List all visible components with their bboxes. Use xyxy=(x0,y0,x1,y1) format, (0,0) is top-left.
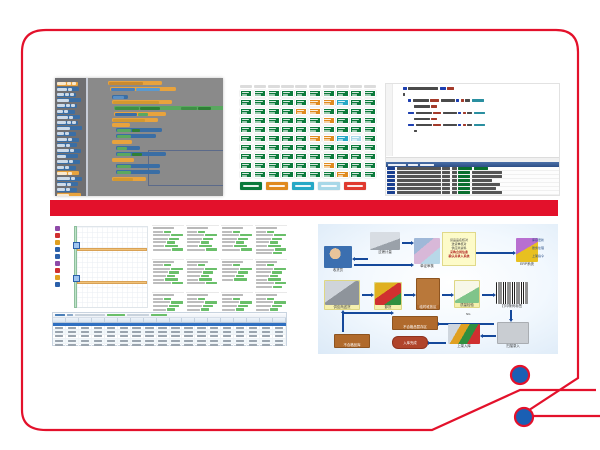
table-cell[interactable] xyxy=(105,344,118,346)
table-cell[interactable] xyxy=(92,326,105,329)
flow-node-scan-entry[interactable]: 扫描录入 xyxy=(498,322,528,348)
workspace-block[interactable] xyxy=(112,95,128,99)
status-card[interactable] xyxy=(268,153,280,160)
code-line[interactable] xyxy=(397,99,557,102)
status-card[interactable] xyxy=(336,117,348,124)
status-card[interactable] xyxy=(350,126,362,133)
table-cell[interactable] xyxy=(208,330,221,333)
workspace-block[interactable] xyxy=(116,164,160,168)
status-card[interactable] xyxy=(336,144,348,151)
report-panel[interactable] xyxy=(152,259,184,291)
status-card[interactable] xyxy=(281,126,293,133)
data-grid-column-header[interactable] xyxy=(118,318,131,322)
table-cell[interactable] xyxy=(66,335,79,338)
data-grid-column-header[interactable] xyxy=(221,318,234,322)
table-cell[interactable] xyxy=(92,339,105,342)
status-card[interactable] xyxy=(336,171,348,178)
table-cell[interactable] xyxy=(182,339,195,342)
table-cell[interactable] xyxy=(182,330,195,333)
palette-block[interactable] xyxy=(57,126,82,130)
status-card[interactable] xyxy=(254,90,266,97)
table-cell[interactable] xyxy=(195,326,208,329)
table-cell[interactable] xyxy=(157,335,170,338)
status-card[interactable] xyxy=(364,126,376,133)
palette-block[interactable] xyxy=(57,149,81,153)
table-cell[interactable] xyxy=(195,339,208,342)
table-cell[interactable] xyxy=(208,335,221,338)
status-card[interactable] xyxy=(364,99,376,106)
report-panel[interactable] xyxy=(255,225,287,257)
sheet-icon[interactable] xyxy=(55,247,60,252)
palette-block[interactable] xyxy=(57,143,77,147)
data-grid-column-header[interactable] xyxy=(195,318,208,322)
table-cell[interactable] xyxy=(170,330,183,333)
data-grid-column-header[interactable] xyxy=(53,318,66,322)
status-card[interactable] xyxy=(295,117,307,124)
status-card[interactable] xyxy=(336,153,348,160)
table-cell[interactable] xyxy=(234,344,247,346)
data-grid-column-header[interactable] xyxy=(260,318,273,322)
sheet-icon[interactable] xyxy=(55,226,60,231)
palette-block[interactable] xyxy=(57,177,82,181)
data-grid-column-header[interactable] xyxy=(157,318,170,322)
table-cell[interactable] xyxy=(131,335,144,338)
status-card[interactable] xyxy=(254,117,266,124)
data-grid-column-header[interactable] xyxy=(247,318,260,322)
table-cell[interactable] xyxy=(105,335,118,338)
output-log-rows[interactable] xyxy=(386,167,559,196)
panel-blocks-editor[interactable] xyxy=(55,78,223,196)
code-line[interactable] xyxy=(397,117,557,120)
flow-node-nonconform-hold[interactable]: 不合格品暂存区 xyxy=(392,316,438,330)
status-card[interactable] xyxy=(295,153,307,160)
report-panel[interactable] xyxy=(221,259,253,291)
status-card[interactable] xyxy=(350,171,362,178)
workspace-block[interactable] xyxy=(114,106,223,110)
table-cell[interactable] xyxy=(182,335,195,338)
flow-node-receiving-clerk[interactable]: 收货员 xyxy=(324,246,352,272)
table-cell[interactable] xyxy=(221,330,234,333)
table-cell[interactable] xyxy=(170,326,183,329)
status-card[interactable] xyxy=(309,153,321,160)
table-cell[interactable] xyxy=(66,339,79,342)
palette-block[interactable] xyxy=(57,138,79,142)
report-panel[interactable] xyxy=(186,259,218,291)
code-line[interactable] xyxy=(397,130,557,133)
data-grid-column-header[interactable] xyxy=(170,318,183,322)
code-line[interactable] xyxy=(397,93,557,96)
workspace-block[interactable] xyxy=(116,146,140,150)
code-line[interactable] xyxy=(397,105,557,108)
status-card[interactable] xyxy=(350,135,362,142)
report-panel[interactable] xyxy=(255,259,287,291)
status-card[interactable] xyxy=(254,153,266,160)
schedule-node[interactable] xyxy=(73,242,80,249)
data-grid-column-header[interactable] xyxy=(273,318,286,322)
status-card[interactable] xyxy=(254,99,266,106)
table-row[interactable] xyxy=(53,344,286,346)
workspace-block[interactable] xyxy=(116,128,162,132)
table-cell[interactable] xyxy=(247,344,260,346)
status-card[interactable] xyxy=(281,108,293,115)
status-card[interactable] xyxy=(281,99,293,106)
status-card[interactable] xyxy=(323,99,335,106)
code-editor-area[interactable] xyxy=(386,84,559,156)
status-card[interactable] xyxy=(309,171,321,178)
status-card[interactable] xyxy=(323,126,335,133)
flow-node-unloading[interactable]: 卸货 xyxy=(374,282,402,310)
sheet-icon[interactable] xyxy=(55,233,60,238)
status-card[interactable] xyxy=(240,108,252,115)
code-line[interactable] xyxy=(397,111,557,114)
palette-block[interactable] xyxy=(57,160,80,164)
table-cell[interactable] xyxy=(118,326,131,329)
table-cell[interactable] xyxy=(247,335,260,338)
flow-node-shelving-storage[interactable]: 上架入库 xyxy=(448,324,480,348)
status-card[interactable] xyxy=(309,135,321,142)
flow-node-quality-inspection[interactable]: 质量检验 xyxy=(454,280,480,308)
palette-block[interactable] xyxy=(57,182,78,186)
status-card[interactable] xyxy=(323,117,335,124)
status-card[interactable] xyxy=(350,90,362,97)
status-card[interactable] xyxy=(295,144,307,151)
data-grid-column-header[interactable] xyxy=(234,318,247,322)
workspace-block[interactable] xyxy=(110,87,176,91)
schedule-node[interactable] xyxy=(73,275,80,282)
sheet-icon[interactable] xyxy=(55,254,60,259)
palette-block[interactable] xyxy=(57,87,79,91)
status-card[interactable] xyxy=(309,117,321,124)
flow-node-erp-system[interactable]: ERP系统 xyxy=(516,238,538,266)
status-card[interactable] xyxy=(240,144,252,151)
status-card[interactable] xyxy=(281,90,293,97)
status-card[interactable] xyxy=(364,171,376,178)
status-card[interactable] xyxy=(281,171,293,178)
status-card[interactable] xyxy=(254,126,266,133)
status-card[interactable] xyxy=(240,171,252,178)
workspace-block[interactable] xyxy=(112,177,146,181)
table-cell[interactable] xyxy=(170,335,183,338)
workspace-block[interactable] xyxy=(108,81,162,85)
code-line[interactable] xyxy=(397,87,557,90)
schedule-bar[interactable] xyxy=(77,248,147,251)
status-card[interactable] xyxy=(323,153,335,160)
status-card[interactable] xyxy=(254,144,266,151)
table-cell[interactable] xyxy=(260,335,273,338)
status-card[interactable] xyxy=(254,108,266,115)
status-card[interactable] xyxy=(350,99,362,106)
status-card[interactable] xyxy=(309,99,321,106)
table-cell[interactable] xyxy=(92,344,105,346)
data-grid-column-header[interactable] xyxy=(79,318,92,322)
table-cell[interactable] xyxy=(92,330,105,333)
workspace-block[interactable] xyxy=(112,158,134,162)
status-card[interactable] xyxy=(281,135,293,142)
table-cell[interactable] xyxy=(247,330,260,333)
status-card[interactable] xyxy=(268,144,280,151)
status-card[interactable] xyxy=(350,108,362,115)
blocks-palette[interactable] xyxy=(55,78,88,196)
table-cell[interactable] xyxy=(273,339,286,342)
status-card[interactable] xyxy=(323,171,335,178)
palette-block[interactable] xyxy=(57,82,78,86)
workspace-block[interactable] xyxy=(112,100,172,104)
status-card[interactable] xyxy=(268,171,280,178)
data-grid-column-header[interactable] xyxy=(66,318,79,322)
data-grid-column-header[interactable] xyxy=(105,318,118,322)
data-grid-column-header[interactable] xyxy=(208,318,221,322)
schedule-grid[interactable] xyxy=(76,226,148,308)
table-cell[interactable] xyxy=(260,330,273,333)
table-cell[interactable] xyxy=(157,339,170,342)
table-cell[interactable] xyxy=(118,335,131,338)
status-card[interactable] xyxy=(295,108,307,115)
palette-block[interactable] xyxy=(57,121,78,125)
status-card[interactable] xyxy=(350,144,362,151)
sheet-icon[interactable] xyxy=(55,240,60,245)
status-card[interactable] xyxy=(281,153,293,160)
table-cell[interactable] xyxy=(131,339,144,342)
table-cell[interactable] xyxy=(144,335,157,338)
status-card[interactable] xyxy=(295,99,307,106)
table-cell[interactable] xyxy=(131,326,144,329)
palette-block[interactable] xyxy=(57,171,79,175)
table-cell[interactable] xyxy=(79,344,92,346)
table-cell[interactable] xyxy=(273,344,286,346)
table-cell[interactable] xyxy=(170,339,183,342)
workspace-block[interactable] xyxy=(116,170,160,174)
table-cell[interactable] xyxy=(53,339,66,342)
status-card[interactable] xyxy=(309,108,321,115)
data-grid-column-header[interactable] xyxy=(92,318,105,322)
panel-code-ide[interactable] xyxy=(385,83,560,196)
status-card[interactable] xyxy=(240,90,252,97)
table-cell[interactable] xyxy=(105,339,118,342)
table-cell[interactable] xyxy=(79,326,92,329)
code-line[interactable] xyxy=(397,124,557,127)
sheet-icon[interactable] xyxy=(55,268,60,273)
table-cell[interactable] xyxy=(260,339,273,342)
table-cell[interactable] xyxy=(131,344,144,346)
status-card[interactable] xyxy=(281,117,293,124)
flow-node-barcode-label-print[interactable]: 打印条码标签 xyxy=(496,282,528,308)
data-grid[interactable] xyxy=(52,312,287,346)
status-card[interactable] xyxy=(254,162,266,169)
palette-block[interactable] xyxy=(57,188,77,192)
table-cell[interactable] xyxy=(273,326,286,329)
status-card[interactable] xyxy=(309,126,321,133)
table-cell[interactable] xyxy=(79,335,92,338)
table-cell[interactable] xyxy=(118,344,131,346)
report-panel[interactable] xyxy=(186,225,218,257)
status-card[interactable] xyxy=(364,162,376,169)
table-cell[interactable] xyxy=(208,326,221,329)
status-card[interactable] xyxy=(268,126,280,133)
panel-status-grid[interactable] xyxy=(240,85,376,178)
output-log-row[interactable] xyxy=(386,195,559,196)
table-cell[interactable] xyxy=(182,344,195,346)
palette-block[interactable] xyxy=(57,104,77,108)
table-cell[interactable] xyxy=(157,326,170,329)
table-cell[interactable] xyxy=(66,330,79,333)
table-cell[interactable] xyxy=(221,339,234,342)
report-panel[interactable] xyxy=(152,225,184,257)
status-card[interactable] xyxy=(364,144,376,151)
table-cell[interactable] xyxy=(53,330,66,333)
status-card[interactable] xyxy=(268,90,280,97)
status-card[interactable] xyxy=(364,135,376,142)
table-cell[interactable] xyxy=(53,344,66,346)
status-card[interactable] xyxy=(240,117,252,124)
palette-block[interactable] xyxy=(57,93,76,97)
status-card[interactable] xyxy=(295,171,307,178)
table-cell[interactable] xyxy=(144,330,157,333)
table-cell[interactable] xyxy=(131,330,144,333)
status-card[interactable] xyxy=(240,99,252,106)
report-panel[interactable] xyxy=(221,225,253,257)
table-cell[interactable] xyxy=(273,335,286,338)
status-card[interactable] xyxy=(309,90,321,97)
data-grid-column-header[interactable] xyxy=(144,318,157,322)
table-cell[interactable] xyxy=(234,326,247,329)
blocks-canvas[interactable] xyxy=(90,78,223,196)
palette-block[interactable] xyxy=(57,110,75,114)
status-card[interactable] xyxy=(323,162,335,169)
flow-node-scale-weighing[interactable]: 过磅计量 xyxy=(370,232,400,254)
data-grid-column-header[interactable] xyxy=(131,318,144,322)
status-card[interactable] xyxy=(364,108,376,115)
sheet-icon[interactable] xyxy=(55,261,60,266)
status-card[interactable] xyxy=(254,171,266,178)
table-cell[interactable] xyxy=(221,326,234,329)
status-card[interactable] xyxy=(336,108,348,115)
report-form-panels[interactable] xyxy=(152,225,287,310)
workspace-block[interactable] xyxy=(114,112,166,116)
table-cell[interactable] xyxy=(118,339,131,342)
flow-node-supplier-delivery[interactable]: 供应商送货 xyxy=(324,280,360,310)
workspace-block[interactable] xyxy=(116,134,156,138)
table-cell[interactable] xyxy=(195,330,208,333)
table-cell[interactable] xyxy=(247,339,260,342)
status-card[interactable] xyxy=(323,108,335,115)
table-cell[interactable] xyxy=(144,344,157,346)
table-cell[interactable] xyxy=(234,339,247,342)
output-log-panel[interactable] xyxy=(386,162,559,195)
code-lines[interactable] xyxy=(397,87,557,133)
status-card[interactable] xyxy=(268,135,280,142)
table-cell[interactable] xyxy=(53,326,66,329)
status-card[interactable] xyxy=(336,90,348,97)
table-cell[interactable] xyxy=(208,339,221,342)
table-cell[interactable] xyxy=(66,344,79,346)
table-cell[interactable] xyxy=(195,335,208,338)
table-cell[interactable] xyxy=(157,344,170,346)
table-cell[interactable] xyxy=(234,330,247,333)
table-cell[interactable] xyxy=(144,339,157,342)
palette-block[interactable] xyxy=(57,166,76,170)
status-card[interactable] xyxy=(268,108,280,115)
status-grid-cells[interactable] xyxy=(240,90,376,178)
table-cell[interactable] xyxy=(208,344,221,346)
status-card[interactable] xyxy=(295,135,307,142)
flow-node-inbound-complete[interactable]: 入库完成 xyxy=(392,336,428,349)
sheet-icon[interactable] xyxy=(55,282,60,287)
table-cell[interactable] xyxy=(260,344,273,346)
status-card[interactable] xyxy=(240,162,252,169)
table-cell[interactable] xyxy=(105,326,118,329)
sheet-toolbar-icons[interactable] xyxy=(52,224,74,309)
workspace-block[interactable] xyxy=(112,123,130,127)
status-card[interactable] xyxy=(295,126,307,133)
status-card[interactable] xyxy=(268,117,280,124)
status-card[interactable] xyxy=(364,153,376,160)
table-cell[interactable] xyxy=(92,335,105,338)
status-card[interactable] xyxy=(240,126,252,133)
status-card[interactable] xyxy=(336,99,348,106)
sheet-icon[interactable] xyxy=(55,275,60,280)
panel-spreadsheet[interactable] xyxy=(52,224,287,346)
table-cell[interactable] xyxy=(66,326,79,329)
status-card[interactable] xyxy=(240,153,252,160)
table-cell[interactable] xyxy=(221,335,234,338)
status-card[interactable] xyxy=(364,90,376,97)
table-cell[interactable] xyxy=(79,330,92,333)
schedule-bar[interactable] xyxy=(77,281,147,284)
status-card[interactable] xyxy=(309,144,321,151)
status-card[interactable] xyxy=(350,117,362,124)
palette-block[interactable] xyxy=(57,115,80,119)
table-cell[interactable] xyxy=(182,326,195,329)
table-cell[interactable] xyxy=(260,326,273,329)
table-cell[interactable] xyxy=(53,335,66,338)
workspace-block[interactable] xyxy=(112,118,158,122)
status-card[interactable] xyxy=(350,153,362,160)
data-grid-body[interactable] xyxy=(53,326,286,346)
workspace-block[interactable] xyxy=(112,140,132,144)
table-cell[interactable] xyxy=(221,344,234,346)
flow-node-doc-check[interactable]: 单证审核 xyxy=(414,238,440,268)
status-card[interactable] xyxy=(295,90,307,97)
status-card[interactable] xyxy=(281,144,293,151)
status-card[interactable] xyxy=(323,135,335,142)
palette-block[interactable] xyxy=(57,132,76,136)
status-card[interactable] xyxy=(323,144,335,151)
status-card[interactable] xyxy=(295,162,307,169)
status-card[interactable] xyxy=(350,162,362,169)
status-card[interactable] xyxy=(240,135,252,142)
status-card[interactable] xyxy=(336,162,348,169)
workspace-block[interactable] xyxy=(116,152,166,156)
table-cell[interactable] xyxy=(247,326,260,329)
status-card[interactable] xyxy=(323,90,335,97)
status-card[interactable] xyxy=(254,135,266,142)
status-card[interactable] xyxy=(309,162,321,169)
palette-block[interactable] xyxy=(57,98,81,102)
table-cell[interactable] xyxy=(157,330,170,333)
status-card[interactable] xyxy=(268,162,280,169)
table-cell[interactable] xyxy=(195,344,208,346)
flow-node-nonconform-return[interactable]: 不合格品库 xyxy=(334,334,370,348)
panel-logistics-flowchart[interactable]: 收货员过磅计量单证审核供应商送货卸货临时堆放区质量检验打印条码标签扫描录入上架入… xyxy=(318,224,558,354)
table-cell[interactable] xyxy=(273,330,286,333)
status-card[interactable] xyxy=(281,162,293,169)
status-card[interactable] xyxy=(364,117,376,124)
table-cell[interactable] xyxy=(170,344,183,346)
flow-node-temp-storage-area[interactable]: 临时堆放区 xyxy=(416,278,440,310)
palette-block[interactable] xyxy=(57,193,81,196)
table-cell[interactable] xyxy=(118,330,131,333)
table-cell[interactable] xyxy=(79,339,92,342)
